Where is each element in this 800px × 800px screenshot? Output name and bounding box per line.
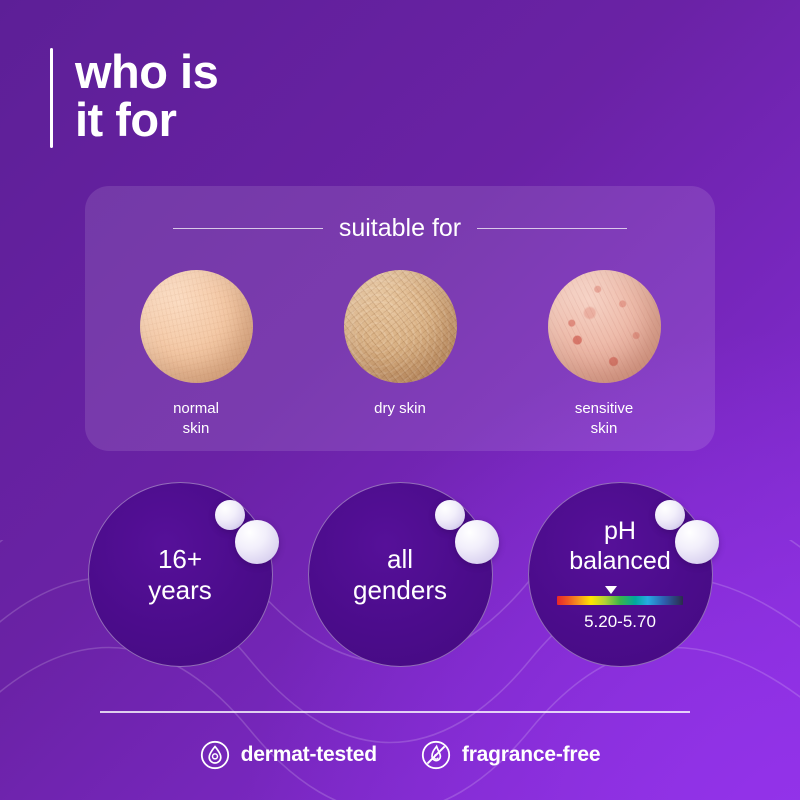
trust-badge-fragrance-free: fragrance-free (421, 740, 600, 770)
badge-content: pH balanced 5.20-5.70 (528, 482, 713, 667)
suitable-for-card: suitable for normal skin dry skin sensit… (85, 186, 715, 451)
ph-gradient-bar (557, 596, 683, 605)
badge-age: 16+ years (88, 482, 273, 667)
normal-skin-swatch (140, 270, 253, 383)
dry-skin-swatch (344, 270, 457, 383)
rule-left (173, 228, 323, 229)
poster: who is it for suitable for normal skin d… (0, 0, 800, 800)
skin-type-sensitive: sensitive skin (542, 270, 666, 440)
ph-scale: 5.20-5.70 (557, 586, 683, 632)
title-text: who is it for (75, 48, 218, 148)
card-header: suitable for (85, 214, 715, 243)
sensitive-skin-swatch (548, 270, 661, 383)
skin-type-label: sensitive skin (542, 399, 666, 440)
badge-label: all genders (353, 544, 447, 605)
bubble-large-icon (235, 520, 279, 564)
bubble-large-icon (455, 520, 499, 564)
feature-badge-list: 16+ years all genders pH balanced 5.20-5… (0, 482, 800, 667)
skin-type-normal: normal skin (134, 270, 258, 440)
title-line-1: who is (75, 48, 218, 96)
badge-ph: pH balanced 5.20-5.70 (528, 482, 713, 667)
bubble-small-icon (655, 500, 685, 530)
rule-right (477, 228, 627, 229)
skin-type-list: normal skin dry skin sensitive skin (85, 270, 715, 440)
badge-label: pH balanced (569, 517, 670, 576)
bubble-small-icon (215, 500, 245, 530)
footer-divider (100, 711, 690, 713)
skin-type-dry: dry skin (338, 270, 462, 440)
ph-range-label: 5.20-5.70 (557, 612, 683, 632)
trust-badge-row: dermat-tested fragrance-free (0, 740, 800, 770)
badge-content: all genders (308, 482, 493, 667)
title-accent-bar (50, 48, 53, 148)
title-line-2: it for (75, 96, 218, 144)
badge-label: 16+ years (148, 544, 212, 605)
badge-content: 16+ years (88, 482, 273, 667)
card-title: suitable for (339, 214, 461, 243)
ph-marker-icon (605, 586, 617, 594)
no-fragrance-icon (421, 740, 451, 770)
trust-badge-label: fragrance-free (462, 743, 600, 767)
trust-badge-dermat-tested: dermat-tested (200, 740, 377, 770)
badge-gender: all genders (308, 482, 493, 667)
skin-type-label: normal skin (134, 399, 258, 440)
bubble-large-icon (675, 520, 719, 564)
skin-type-label: dry skin (338, 399, 462, 419)
trust-badge-label: dermat-tested (241, 743, 377, 767)
bubble-small-icon (435, 500, 465, 530)
page-title: who is it for (50, 48, 218, 148)
droplet-circle-icon (200, 740, 230, 770)
